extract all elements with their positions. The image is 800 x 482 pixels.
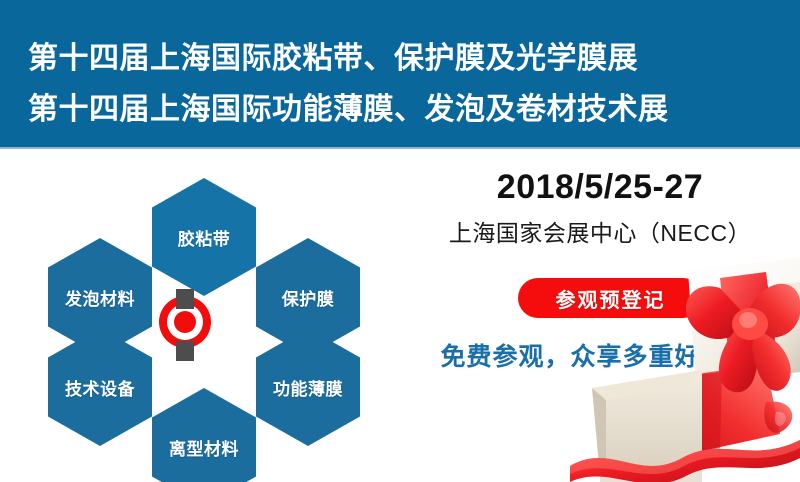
event-info-block: 2018/5/25-27 上海国家会展中心（NECC） 参观预登记 免费参观，众… — [420, 170, 780, 248]
event-date: 2018/5/25-27 — [420, 170, 780, 206]
header-divider — [0, 147, 800, 149]
visitor-pre-registration-button[interactable]: 参观预登记 — [518, 278, 703, 318]
gift-box-base — [656, 364, 780, 458]
hex-category-technical-equipment[interactable]: 技术设备 — [48, 328, 152, 446]
promo-tagline-gift-character: 礼 — [711, 340, 740, 372]
logo-bar-top — [176, 289, 194, 309]
hex-label: 功能薄膜 — [273, 375, 343, 400]
hex-label: 保护膜 — [282, 285, 335, 310]
hex-label: 发泡材料 — [65, 285, 135, 310]
logo-bar-bottom — [176, 341, 194, 361]
exhibition-title-line-1: 第十四届上海国际胶粘带、保护膜及光学膜展 — [28, 33, 638, 77]
logo-center-dot — [174, 311, 196, 333]
promo-tagline: 免费参观，众享多重好礼 — [420, 332, 760, 374]
hex-label: 离型材料 — [169, 435, 239, 460]
exhibition-promo-banner: 第十四届上海国际胶粘带、保护膜及光学膜展 第十四届上海国际功能薄膜、发泡及卷材技… — [0, 0, 800, 482]
hex-category-functional-film[interactable]: 功能薄膜 — [256, 328, 360, 446]
event-venue: 上海国家会展中心（NECC） — [420, 214, 780, 248]
hex-label: 技术设备 — [65, 375, 135, 400]
promo-tagline-text: 免费参观，众享多重好 — [440, 343, 700, 371]
center-target-logo-icon — [152, 285, 218, 365]
hex-category-release-material[interactable]: 离型材料 — [152, 388, 256, 482]
gift-ribbon-streamers — [570, 401, 800, 482]
banner-header: 第十四届上海国际胶粘带、保护膜及光学膜展 第十四届上海国际功能薄膜、发泡及卷材技… — [0, 0, 800, 147]
gift-box-body — [592, 370, 702, 482]
exhibition-title-line-2: 第十四届上海国际功能薄膜、发泡及卷材技术展 — [28, 84, 669, 128]
hex-label: 胶粘带 — [178, 225, 231, 250]
hex-category-adhesive-tape[interactable]: 胶粘带 — [152, 178, 256, 296]
